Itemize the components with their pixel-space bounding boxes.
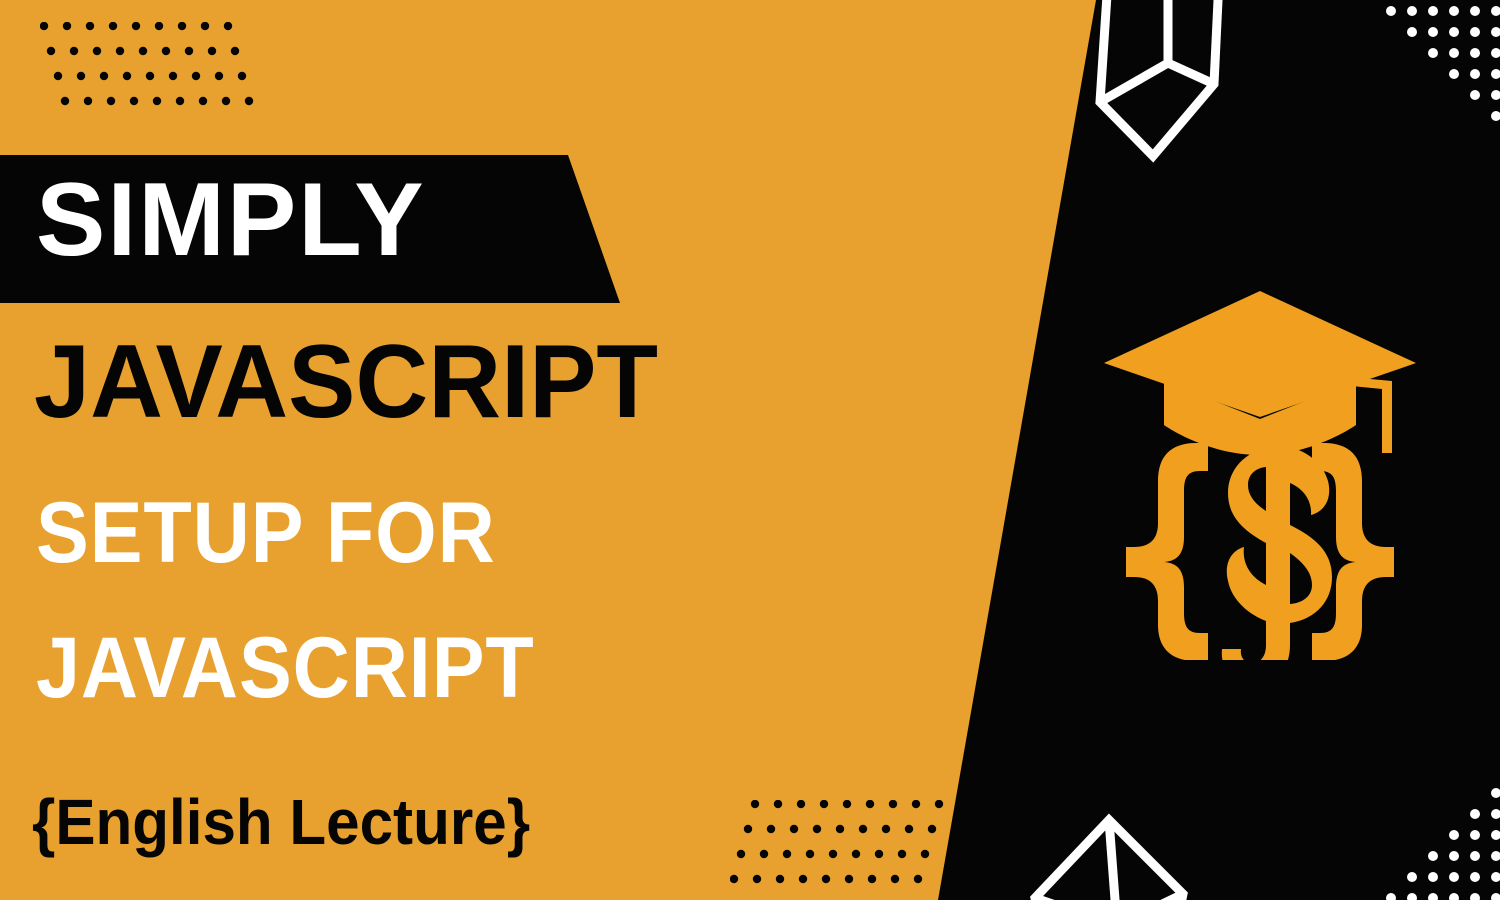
video-thumbnail-canvas: SIMPLY JAVASCRIPT SETUP FOR JAVASCRIPT {… [0, 0, 1500, 900]
subtitle-line-2: JAVASCRIPT [36, 625, 535, 711]
title-line-javascript: JAVASCRIPT [34, 330, 658, 434]
subtitle-line-1: SETUP FOR [36, 490, 496, 576]
title-stack: SIMPLY JAVASCRIPT SETUP FOR JAVASCRIPT {… [0, 0, 940, 900]
lecture-language-tag: {English Lecture} [32, 790, 530, 854]
title-line-simply: SIMPLY [36, 168, 426, 272]
